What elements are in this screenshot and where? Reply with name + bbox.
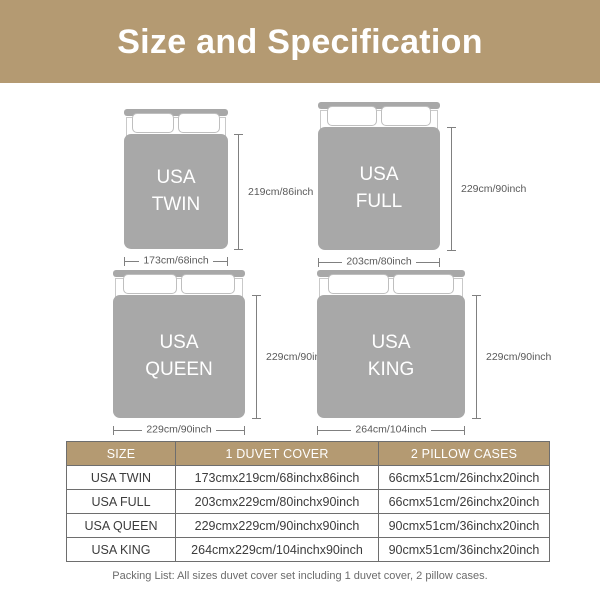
bed-label-line2: TWIN (152, 192, 201, 218)
pillow-right (393, 274, 454, 294)
dimension-rule-right (213, 261, 227, 262)
height-dimension-label: 229cm/90inch (461, 183, 526, 195)
table-row: USA QUEEN 229cmx229cm/90inchx90inch 90cm… (67, 514, 550, 538)
column-header-size: SIZE (67, 442, 176, 466)
cell-size: USA KING (67, 538, 176, 562)
column-header-pillow-cases: 2 PILLOW CASES (379, 442, 550, 466)
dimension-rule-left (319, 262, 342, 263)
dimension-cap-right (464, 426, 465, 435)
packing-list-note: Packing List: All sizes duvet cover set … (0, 570, 600, 582)
pillow-right (178, 113, 220, 133)
height-dimension: 229cm/90inch (447, 127, 526, 251)
cell-duvet: 173cmx219cm/68inchx86inch (176, 466, 379, 490)
bed-label-line2: KING (368, 357, 414, 383)
table-row: USA FULL 203cmx229cm/80inchx90inch 66cmx… (67, 490, 550, 514)
bed-figure: USA FULL (318, 102, 440, 250)
bed-diagram-area: USA TWIN 219cm/86inch 173cm/68inch USA (0, 83, 600, 435)
dimension-rule-left (125, 261, 139, 262)
bed-label-line2: FULL (356, 189, 402, 215)
dimension-cap-right (439, 258, 440, 267)
table-body: USA TWIN 173cmx219cm/68inchx86inch 66cmx… (67, 466, 550, 562)
dimension-line-vertical (252, 295, 261, 419)
height-dimension-label: 229cm/90inch (486, 351, 551, 363)
cell-size: USA TWIN (67, 466, 176, 490)
bed-figure: USA TWIN (124, 109, 228, 249)
bed-label-line1: USA (159, 330, 198, 356)
cell-size: USA QUEEN (67, 514, 176, 538)
bed-figure: USA KING (317, 270, 465, 418)
width-dimension-label: 203cm/80inch (342, 256, 415, 268)
cell-size: USA FULL (67, 490, 176, 514)
pillow-left (123, 274, 177, 294)
dimension-rule-left (318, 430, 351, 431)
bed-label-line1: USA (156, 165, 195, 191)
dimension-stem (476, 295, 477, 419)
pillow-right (381, 106, 431, 126)
cell-duvet: 229cmx229cm/90inchx90inch (176, 514, 379, 538)
dimension-line-vertical (447, 127, 456, 251)
dimension-cap-right (227, 257, 228, 266)
height-dimension: 229cm/90inch (472, 295, 551, 419)
table-header-row: SIZE 1 DUVET COVER 2 PILLOW CASES (67, 442, 550, 466)
width-dimension: 203cm/80inch (318, 256, 440, 268)
header-banner: Size and Specification (0, 0, 600, 83)
column-header-duvet-cover: 1 DUVET COVER (176, 442, 379, 466)
dimension-stem (256, 295, 257, 419)
bed-label-line1: USA (371, 330, 410, 356)
cell-pillow: 90cmx51cm/36inchx20inch (379, 538, 550, 562)
width-dimension-label: 264cm/104inch (351, 424, 430, 436)
pillow-left (328, 274, 389, 294)
cell-pillow: 66cmx51cm/26inchx20inch (379, 490, 550, 514)
height-dimension: 219cm/86inch (234, 134, 313, 250)
duvet-body: USA QUEEN (113, 295, 245, 418)
width-dimension: 264cm/104inch (317, 424, 465, 436)
dimension-line-vertical (234, 134, 243, 250)
pillow-right (181, 274, 235, 294)
bed-diagram-usa-full: USA FULL 229cm/90inch 203cm/80inch (318, 102, 493, 267)
table-row: USA KING 264cmx229cm/104inchx90inch 90cm… (67, 538, 550, 562)
bed-label-line1: USA (359, 162, 398, 188)
dimension-rule-right (216, 430, 244, 431)
dimension-rule-right (416, 262, 439, 263)
duvet-body: USA KING (317, 295, 465, 418)
cell-duvet: 264cmx229cm/104inchx90inch (176, 538, 379, 562)
page-title: Size and Specification (117, 25, 483, 59)
duvet-body: USA FULL (318, 127, 440, 250)
bed-label-line2: QUEEN (145, 357, 213, 383)
cell-duvet: 203cmx229cm/80inchx90inch (176, 490, 379, 514)
bed-diagram-usa-king: USA KING 229cm/90inch 264cm/104inch (317, 270, 517, 435)
specification-table: SIZE 1 DUVET COVER 2 PILLOW CASES USA TW… (66, 441, 550, 562)
dimension-stem (238, 134, 239, 250)
dimension-stem (451, 127, 452, 251)
bed-diagram-usa-queen: USA QUEEN 229cm/90inch 229cm/90inch (113, 270, 298, 435)
width-dimension: 173cm/68inch (124, 255, 228, 267)
table-row: USA TWIN 173cmx219cm/68inchx86inch 66cmx… (67, 466, 550, 490)
width-dimension-label: 173cm/68inch (139, 255, 212, 267)
cell-pillow: 90cmx51cm/36inchx20inch (379, 514, 550, 538)
pillow-left (327, 106, 377, 126)
bed-figure: USA QUEEN (113, 270, 245, 418)
duvet-body: USA TWIN (124, 134, 228, 249)
dimension-cap-right (244, 426, 245, 435)
width-dimension: 229cm/90inch (113, 424, 245, 436)
dimension-rule-left (114, 430, 142, 431)
pillow-left (132, 113, 174, 133)
dimension-rule-right (431, 430, 464, 431)
table-header: SIZE 1 DUVET COVER 2 PILLOW CASES (67, 442, 550, 466)
dimension-line-vertical (472, 295, 481, 419)
cell-pillow: 66cmx51cm/26inchx20inch (379, 466, 550, 490)
width-dimension-label: 229cm/90inch (142, 424, 215, 436)
bed-diagram-usa-twin: USA TWIN 219cm/86inch 173cm/68inch (124, 109, 284, 264)
height-dimension-label: 219cm/86inch (248, 186, 313, 198)
